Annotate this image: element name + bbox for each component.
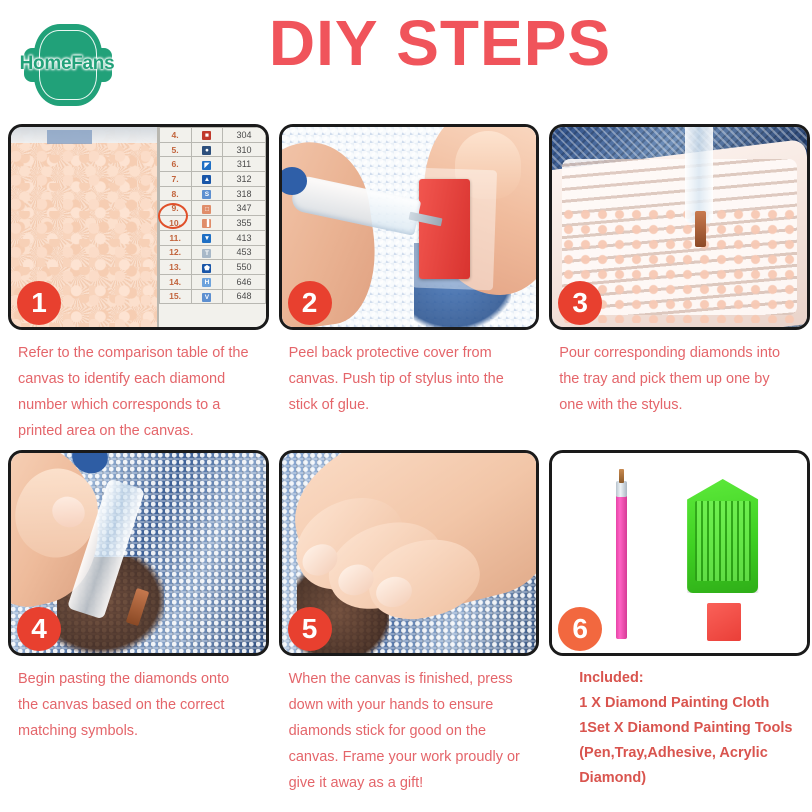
symbol-icon: V bbox=[202, 293, 211, 302]
table-cell-code: 318 bbox=[223, 186, 265, 201]
symbol-icon: H bbox=[202, 278, 211, 287]
included-line-2: 1Set X Diamond Painting Tools bbox=[579, 716, 794, 741]
highlight-circle-icon bbox=[158, 203, 188, 229]
step-badge-2: 2 bbox=[288, 281, 332, 325]
table-row: 8.S318 bbox=[159, 186, 265, 201]
table-cell-code: 646 bbox=[223, 274, 265, 289]
table-cell-number: 7. bbox=[159, 172, 191, 187]
symbol-icon: S bbox=[202, 190, 211, 199]
table-row: 15.V648 bbox=[159, 289, 265, 304]
table-row: 6.◤311 bbox=[159, 157, 265, 172]
symbol-icon: ▐ bbox=[202, 219, 211, 228]
table-cell-number: 14. bbox=[159, 274, 191, 289]
pen-ferrule-icon bbox=[616, 481, 627, 497]
table-cell-number: 6. bbox=[159, 157, 191, 172]
step-image-2: 2 bbox=[279, 124, 540, 330]
step-caption-5: When the canvas is finished, press down … bbox=[279, 656, 534, 796]
red-adhesive-square-image bbox=[707, 603, 740, 641]
table-cell-number: 5. bbox=[159, 142, 191, 157]
table-row: 12.T453 bbox=[159, 245, 265, 260]
pen-tip-icon bbox=[619, 469, 624, 483]
table-cell-number: 4. bbox=[159, 128, 191, 143]
included-line-1: 1 X Diamond Painting Cloth bbox=[579, 691, 794, 716]
table-cell-code: 310 bbox=[223, 142, 265, 157]
table-cell-symbol: T bbox=[191, 245, 223, 260]
table-cell-number: 13. bbox=[159, 260, 191, 275]
table-cell-code: 312 bbox=[223, 172, 265, 187]
stylus-pen-image bbox=[685, 127, 713, 223]
step-caption-1: Refer to the comparison table of the can… bbox=[8, 330, 263, 450]
table-cell-symbol: ■ bbox=[191, 128, 223, 143]
table-cell-code: 648 bbox=[223, 289, 265, 304]
included-line-3: (Pen,Tray,Adhesive, Acrylic Diamond) bbox=[579, 741, 794, 791]
table-cell-symbol: ◤ bbox=[191, 157, 223, 172]
symbol-icon: ◤ bbox=[202, 161, 211, 170]
stylus-tip-icon bbox=[695, 211, 706, 247]
symbol-icon: ▲ bbox=[202, 175, 211, 184]
steps-row-bottom: 4 Begin pasting the diamonds onto the ca… bbox=[0, 450, 812, 796]
step-cell-4: 4 Begin pasting the diamonds onto the ca… bbox=[0, 450, 271, 796]
table-cell-symbol: ● bbox=[191, 142, 223, 157]
table-cell-code: 453 bbox=[223, 245, 265, 260]
step-badge-1: 1 bbox=[17, 281, 61, 325]
table-row: 14.H646 bbox=[159, 274, 265, 289]
table-cell-number: 12. bbox=[159, 245, 191, 260]
logo-text: HomeFans bbox=[12, 53, 122, 75]
included-list: Included: 1 X Diamond Painting Cloth 1Se… bbox=[549, 656, 804, 791]
symbol-icon: ▼ bbox=[202, 234, 211, 243]
table-cell-symbol: □ bbox=[191, 201, 223, 216]
table-row: 4.■304 bbox=[159, 128, 265, 143]
symbol-icon: □ bbox=[202, 205, 211, 214]
table-cell-number: 11. bbox=[159, 230, 191, 245]
diy-steps-infographic: HomeFans DIY STEPS 4.■3045.●3106.◤3117.▲… bbox=[0, 0, 812, 812]
symbol-icon: T bbox=[202, 249, 211, 258]
table-cell-symbol: H bbox=[191, 274, 223, 289]
table-cell-symbol: S bbox=[191, 186, 223, 201]
step-badge-5: 5 bbox=[288, 607, 332, 651]
table-cell-code: 347 bbox=[223, 201, 265, 216]
step-image-5: 5 bbox=[279, 450, 540, 656]
table-cell-code: 413 bbox=[223, 230, 265, 245]
brand-logo: HomeFans bbox=[12, 22, 122, 108]
table-cell-symbol: V bbox=[191, 289, 223, 304]
step-image-6: 6 bbox=[549, 450, 810, 656]
step-image-1: 4.■3045.●3106.◤3117.▲3128.S3189.□34710.▐… bbox=[8, 124, 269, 330]
table-cell-code: 304 bbox=[223, 128, 265, 143]
table-cell-symbol: ▲ bbox=[191, 172, 223, 187]
step-badge-6: 6 bbox=[558, 607, 602, 651]
step-badge-4: 4 bbox=[17, 607, 61, 651]
steps-grid: 4.■3045.●3106.◤3117.▲3128.S3189.□34710.▐… bbox=[0, 124, 812, 796]
table-cell-number: 8. bbox=[159, 186, 191, 201]
table-cell-code: 550 bbox=[223, 260, 265, 275]
step-caption-2: Peel back protective cover from canvas. … bbox=[279, 330, 534, 450]
table-cell-symbol: ▐ bbox=[191, 216, 223, 231]
step-cell-2: 2 Peel back protective cover from canvas… bbox=[271, 124, 542, 450]
bag-seal-strip bbox=[47, 130, 93, 144]
table-cell-symbol: ⬟ bbox=[191, 260, 223, 275]
table-row: 11.▼413 bbox=[159, 230, 265, 245]
table-row: 7.▲312 bbox=[159, 172, 265, 187]
step-cell-6: 6 Included: 1 X Diamond Painting Cloth 1… bbox=[541, 450, 812, 796]
table-cell-code: 355 bbox=[223, 216, 265, 231]
step-cell-5: 5 When the canvas is finished, press dow… bbox=[271, 450, 542, 796]
symbol-icon: ■ bbox=[202, 131, 211, 140]
page-title: DIY STEPS bbox=[180, 6, 700, 80]
step-image-3: 3 bbox=[549, 124, 810, 330]
table-row: 13.⬟550 bbox=[159, 260, 265, 275]
steps-row-top: 4.■3045.●3106.◤3117.▲3128.S3189.□34710.▐… bbox=[0, 124, 812, 450]
symbol-icon: ● bbox=[202, 146, 211, 155]
step-cell-1: 4.■3045.●3106.◤3117.▲3128.S3189.□34710.▐… bbox=[0, 124, 271, 450]
step-caption-4: Begin pasting the diamonds onto the canv… bbox=[8, 656, 263, 776]
page-header: HomeFans DIY STEPS bbox=[0, 0, 812, 120]
step-caption-3: Pour corresponding diamonds into the tra… bbox=[549, 330, 804, 450]
pink-stylus-pen-image bbox=[616, 495, 627, 639]
table-row: 5.●310 bbox=[159, 142, 265, 157]
step-cell-3: 3 Pour corresponding diamonds into the t… bbox=[541, 124, 812, 450]
tray-grooves bbox=[695, 501, 751, 581]
table-cell-code: 311 bbox=[223, 157, 265, 172]
symbol-icon: ⬟ bbox=[202, 264, 211, 273]
red-glue-stick bbox=[419, 179, 470, 279]
included-heading: Included: bbox=[579, 666, 794, 691]
step-image-4: 4 bbox=[8, 450, 269, 656]
table-cell-symbol: ▼ bbox=[191, 230, 223, 245]
step-badge-3: 3 bbox=[558, 281, 602, 325]
table-cell-number: 15. bbox=[159, 289, 191, 304]
